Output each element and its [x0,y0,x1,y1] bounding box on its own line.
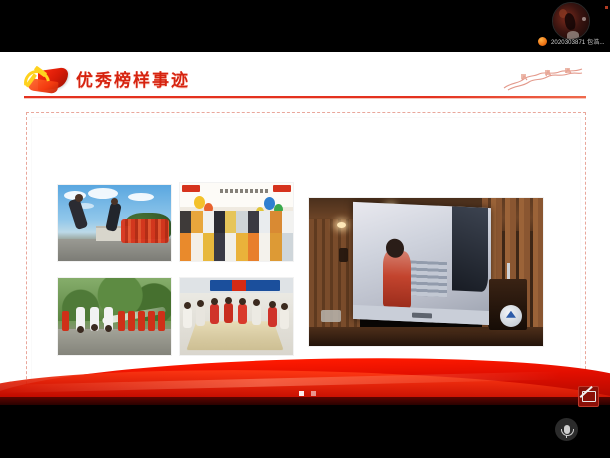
participant-name-row: 2020303871 包浩... [538,37,605,46]
photo-fire-drill-jump [58,185,171,261]
meeting-window: 2020303871 包浩... 优秀榜样事迹 [0,0,610,458]
microphone-icon[interactable] [555,418,578,441]
title-rule-secondary [24,98,586,99]
slide-page-indicator[interactable] [299,391,316,396]
photo-group-balloons [180,183,293,261]
great-wall-decoration-icon [502,64,584,94]
presentation-slide[interactable]: 优秀榜样事迹 [0,52,610,405]
meeting-bottom-bar [0,405,610,458]
photo-fire-hose-demo [58,278,171,355]
slide-header: 优秀榜样事迹 [0,52,610,102]
meeting-top-bar: 2020303871 包浩... [0,0,610,52]
participant-name: 2020303871 包浩... [551,37,605,46]
screen-share-off-icon[interactable] [578,386,599,407]
avatar-thumbnail-icon [553,3,589,39]
photo-auditorium-screen [309,198,543,346]
recording-indicator-icon [605,6,608,9]
red-ribbon-decoration [0,355,610,405]
photo-classroom-activity [180,278,293,355]
communist-party-emblem-icon [20,66,64,98]
participant-badge-icon [538,37,547,46]
avatar[interactable] [552,2,590,40]
page-dot-2[interactable] [311,391,316,396]
page-dot-1[interactable] [299,391,304,396]
page-title: 优秀榜样事迹 [76,66,190,91]
